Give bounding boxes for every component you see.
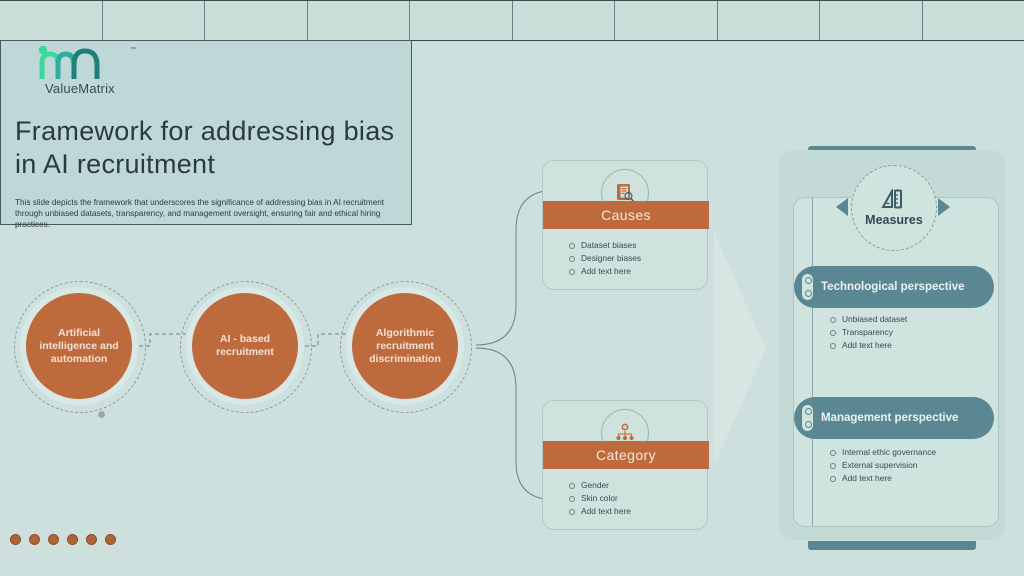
grid-cell bbox=[923, 1, 1024, 40]
grid-cell bbox=[615, 1, 718, 40]
measures-label: Measures bbox=[865, 213, 923, 227]
list-item: Add text here bbox=[567, 265, 707, 278]
flow-node-label: Algorithmic recruitment discrimination bbox=[352, 327, 458, 366]
title-panel: ™ ValueMatrix Framework for addressing b… bbox=[0, 40, 412, 225]
node-disc: Artificial intelligence and automation bbox=[26, 293, 132, 399]
flow-node-label: Artificial intelligence and automation bbox=[26, 327, 132, 366]
flow-node-label: AI - based recruitment bbox=[192, 333, 298, 359]
measures-list-technological: Unbiased dataset Transparency Add text h… bbox=[828, 313, 998, 352]
flow-node-1[interactable]: Artificial intelligence and automation bbox=[26, 293, 132, 399]
grid-cell bbox=[513, 1, 616, 40]
set-square-ruler-icon bbox=[881, 189, 907, 211]
node-accent-dot bbox=[98, 411, 105, 418]
card-title: Category bbox=[596, 447, 656, 463]
group-title: Technological perspective bbox=[821, 280, 965, 294]
list-item: External supervision bbox=[828, 459, 998, 472]
page-description: This slide depicts the framework that un… bbox=[15, 197, 395, 230]
pagination-dot[interactable] bbox=[86, 534, 97, 545]
list-item: Designer biases bbox=[567, 252, 707, 265]
pagination-dot[interactable] bbox=[67, 534, 78, 545]
measures-spine-line bbox=[812, 198, 813, 526]
pagination-dot[interactable] bbox=[105, 534, 116, 545]
slide-root: ™ ValueMatrix Framework for addressing b… bbox=[0, 0, 1024, 576]
flow-node-2[interactable]: AI - based recruitment bbox=[192, 293, 298, 399]
node-disc: AI - based recruitment bbox=[192, 293, 298, 399]
measures-badge[interactable]: Measures bbox=[851, 165, 937, 251]
list-item: Add text here bbox=[567, 505, 707, 518]
measures-bottom-bar bbox=[808, 541, 976, 550]
list-item: Add text here bbox=[828, 339, 998, 352]
pagination-dot[interactable] bbox=[10, 534, 21, 545]
pagination-dot[interactable] bbox=[29, 534, 40, 545]
arrow-right-icon bbox=[938, 198, 950, 216]
measures-list-management: Internal ethic governance External super… bbox=[828, 446, 998, 485]
group-title: Management perspective bbox=[821, 411, 958, 425]
page-title: Framework for addressing bias in AI recr… bbox=[15, 115, 405, 181]
list-item: Internal ethic governance bbox=[828, 446, 998, 459]
trademark-symbol: ™ bbox=[130, 47, 136, 53]
grid-cell bbox=[0, 1, 103, 40]
card-title-bar: Causes bbox=[543, 201, 709, 229]
top-grid bbox=[0, 0, 1024, 41]
brand-logo: ™ ValueMatrix bbox=[37, 45, 157, 105]
card-title: Causes bbox=[601, 207, 651, 223]
grid-cell bbox=[308, 1, 411, 40]
pagination-dots[interactable] bbox=[10, 534, 116, 545]
node-disc: Algorithmic recruitment discrimination bbox=[352, 293, 458, 399]
pill-badge-icon bbox=[802, 274, 813, 300]
card-list: Gender Skin color Add text here bbox=[567, 479, 707, 518]
list-item: Add text here bbox=[828, 472, 998, 485]
measures-group-technological[interactable]: Technological perspective bbox=[794, 266, 994, 308]
card-category[interactable]: Category Gender Skin color Add text here bbox=[542, 400, 708, 530]
pill-badge-icon bbox=[802, 405, 813, 431]
list-item: Unbiased dataset bbox=[828, 313, 998, 326]
card-title-bar: Category bbox=[543, 441, 709, 469]
card-list: Dataset biases Designer biases Add text … bbox=[567, 239, 707, 278]
grid-cell bbox=[410, 1, 513, 40]
list-item: Transparency bbox=[828, 326, 998, 339]
arrow-left-icon bbox=[836, 198, 848, 216]
flow-node-3[interactable]: Algorithmic recruitment discrimination bbox=[352, 293, 458, 399]
grid-cell bbox=[205, 1, 308, 40]
measures-group-management[interactable]: Management perspective bbox=[794, 397, 994, 439]
grid-cell bbox=[103, 1, 206, 40]
list-item: Skin color bbox=[567, 492, 707, 505]
brand-name: ValueMatrix bbox=[45, 81, 115, 96]
list-item: Gender bbox=[567, 479, 707, 492]
list-item: Dataset biases bbox=[567, 239, 707, 252]
grid-cell bbox=[718, 1, 821, 40]
card-causes[interactable]: Causes Dataset biases Designer biases Ad… bbox=[542, 160, 708, 290]
pagination-dot[interactable] bbox=[48, 534, 59, 545]
wave-logo-icon bbox=[37, 45, 127, 79]
grid-cell bbox=[820, 1, 923, 40]
